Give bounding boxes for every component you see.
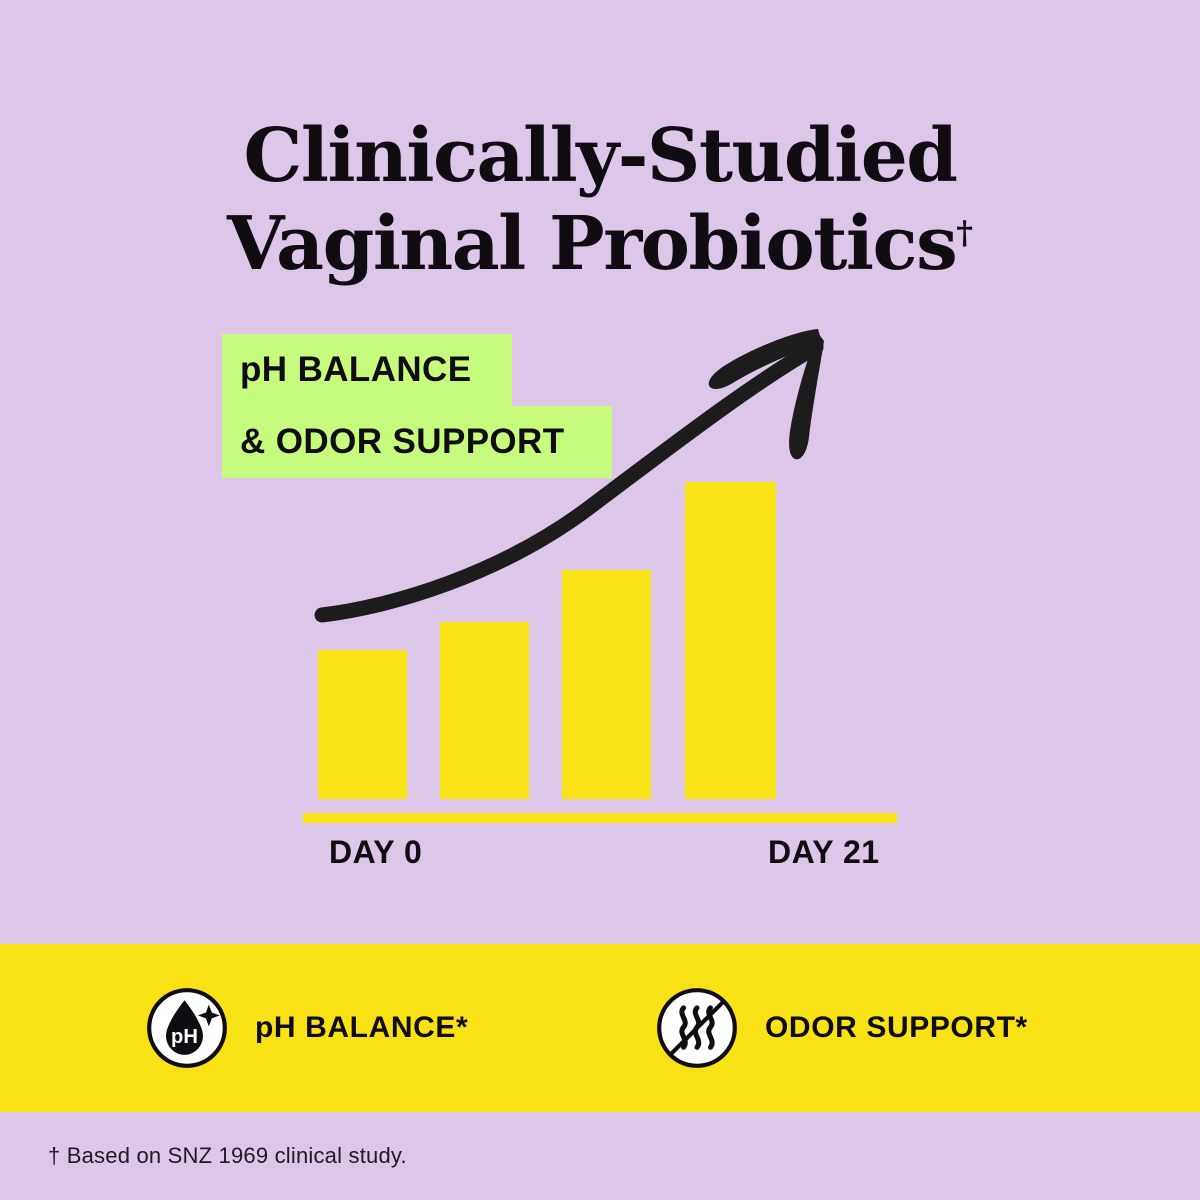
page-title: Clinically-Studied Vaginal Probiotics† (0, 112, 1200, 288)
headline-line-1: Clinically-Studied (0, 112, 1200, 200)
callout-line-1: pH BALANCE (222, 334, 512, 406)
no-odor-waves-icon (655, 986, 739, 1070)
chart-bar (440, 622, 529, 799)
headline-line-2-wrap: Vaginal Probiotics† (0, 200, 1200, 288)
dagger-marker: † (956, 213, 973, 251)
callout-highlight: pH BALANCE & ODOR SUPPORT (222, 334, 612, 478)
callout-line-2: & ODOR SUPPORT (222, 406, 612, 478)
footnote-text: † Based on SNZ 1969 clinical study. (48, 1143, 407, 1169)
axis-tick-day-21: DAY 21 (768, 834, 880, 871)
promo-graphic: Clinically-Studied Vaginal Probiotics† p… (0, 0, 1200, 1200)
benefit-odor-label: ODOR SUPPORT* (765, 1011, 1028, 1045)
svg-text:pH: pH (171, 1026, 198, 1048)
axis-tick-day-0: DAY 0 (329, 834, 422, 871)
headline-line-2: Vaginal Probiotics (227, 201, 956, 287)
chart-bar (562, 570, 651, 799)
ph-droplet-icon: pH (145, 986, 229, 1070)
benefit-odor-support: ODOR SUPPORT* (655, 944, 1028, 1112)
benefit-ph-label: pH BALANCE* (255, 1011, 468, 1045)
chart-bar (318, 650, 407, 799)
benefits-banner: pH pH BALANCE* ODOR SUPPORT* (0, 944, 1200, 1112)
chart-bar (685, 482, 776, 799)
benefit-ph-balance: pH pH BALANCE* (145, 944, 468, 1112)
chart-axis-line (303, 813, 897, 823)
